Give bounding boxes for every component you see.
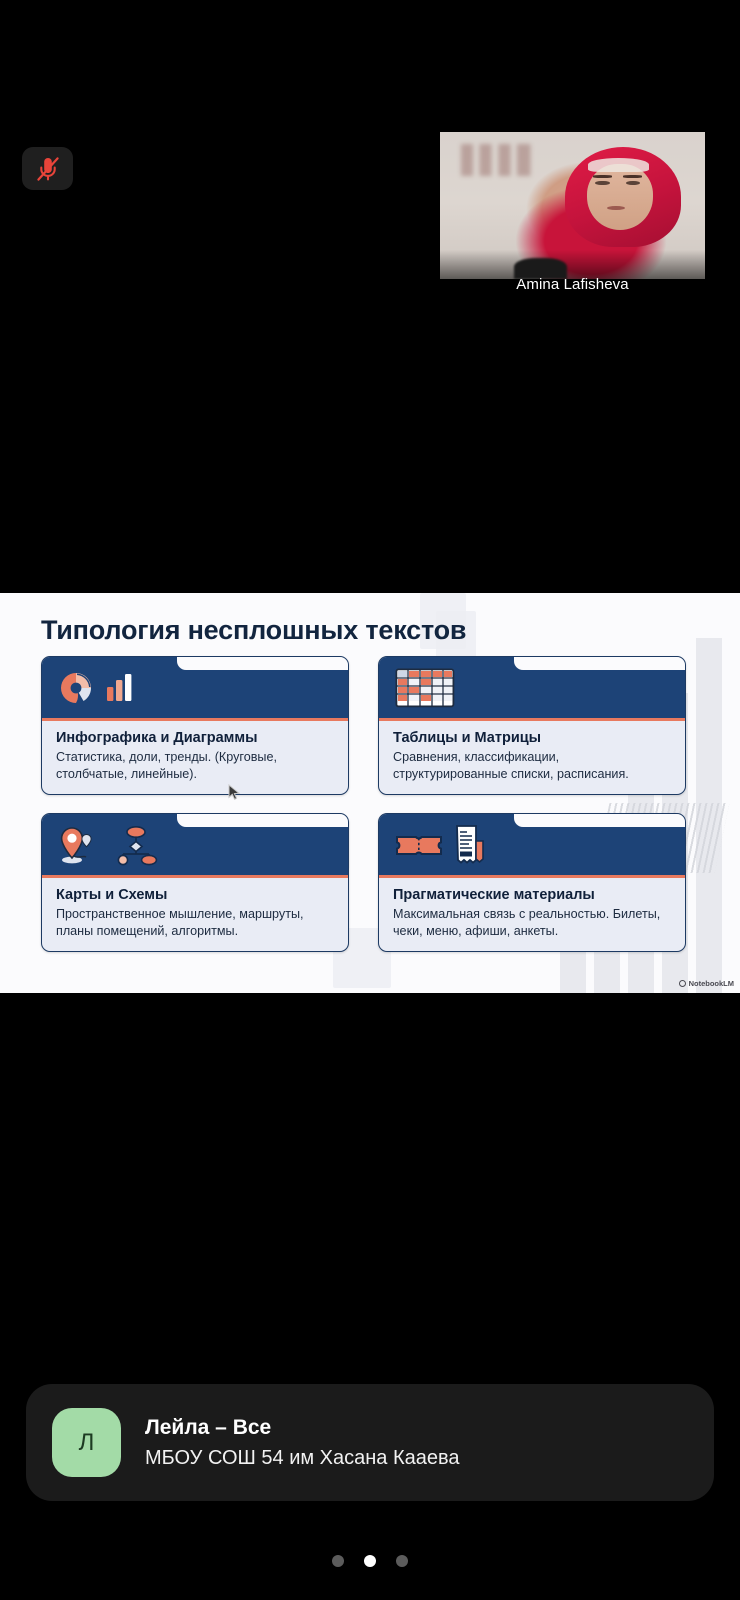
shared-slide[interactable]: Типология несплошных текстов (0, 593, 740, 993)
slide-title: Типология несплошных текстов (41, 615, 466, 646)
map-pin-icon (58, 824, 104, 866)
chat-text-block: Лейла – Все МБОУ СОШ 54 им Хасана Каaева (145, 1416, 460, 1470)
card-header (42, 657, 348, 721)
card-title: Таблицы и Матрицы (393, 730, 671, 746)
chat-message-text: МБОУ СОШ 54 им Хасана Каaева (145, 1447, 460, 1470)
card-body: Прагматические материалы Максимальная св… (379, 878, 685, 951)
card-title: Инфографика и Диаграммы (56, 730, 334, 746)
card-description: Максимальная связь с реальностью. Билеты… (393, 906, 671, 939)
card-row-bottom: Карты и Схемы Пространственное мышление,… (41, 813, 699, 952)
card-maps[interactable]: Карты и Схемы Пространственное мышление,… (41, 813, 349, 952)
card-description: Сравнения, классификации, структурирован… (393, 749, 671, 782)
card-body: Таблицы и Матрицы Сравнения, классификац… (379, 721, 685, 794)
card-infographics[interactable]: Инфографика и Диаграммы Статистика, доли… (41, 656, 349, 795)
background-logo (461, 144, 546, 176)
microphone-muted-badge[interactable] (22, 147, 73, 190)
card-header (379, 814, 685, 878)
card-pragmatic-materials[interactable]: Прагматические материалы Максимальная св… (378, 813, 686, 952)
video-shadow (440, 250, 705, 279)
card-description: Статистика, доли, тренды. (Круговые, сто… (56, 749, 334, 782)
card-tables[interactable]: Таблицы и Матрицы Сравнения, классификац… (378, 656, 686, 795)
mouth (607, 206, 626, 210)
notebooklm-watermark: NotebookLM (679, 979, 734, 988)
card-body: Инфографика и Диаграммы Статистика, доли… (42, 721, 348, 794)
microphone-muted-icon (35, 155, 61, 183)
page-dot-2[interactable] (364, 1555, 376, 1567)
card-row-top: Инфографика и Диаграммы Статистика, доли… (41, 656, 699, 795)
eyebrow-left (593, 175, 612, 177)
card-title: Прагматические материалы (393, 887, 671, 903)
avatar: Л (52, 1408, 121, 1477)
card-title: Карты и Схемы (56, 887, 334, 903)
card-header (379, 657, 685, 721)
participant-video-tile[interactable] (440, 132, 705, 279)
bar-chart-icon (104, 671, 137, 704)
eye-right (626, 181, 641, 186)
page-dot-1[interactable] (332, 1555, 344, 1567)
ticket-icon (395, 830, 443, 860)
eyebrow-right (623, 175, 642, 177)
pagination-dots[interactable] (0, 1555, 740, 1567)
notebooklm-label: NotebookLM (689, 979, 734, 988)
participant-name-label: Amina Lafisheva (440, 276, 705, 293)
notebooklm-logo-icon (679, 980, 686, 987)
flowchart-icon (114, 824, 158, 866)
card-body: Карты и Схемы Пространственное мышление,… (42, 878, 348, 951)
pie-chart-icon (58, 670, 94, 706)
table-grid-icon (395, 668, 455, 708)
mouse-cursor-icon (228, 784, 241, 806)
chat-message-card[interactable]: Л Лейла – Все МБОУ СОШ 54 им Хасана Каaе… (26, 1384, 714, 1501)
receipt-icon (453, 823, 487, 867)
chat-sender: Лейла – Все (145, 1416, 460, 1440)
card-grid: Инфографика и Диаграммы Статистика, доли… (41, 656, 699, 970)
card-description: Пространственное мышление, маршруты, пла… (56, 906, 334, 939)
headband (588, 158, 649, 171)
page-dot-3[interactable] (396, 1555, 408, 1567)
card-header (42, 814, 348, 878)
meeting-screen: Amina Lafisheva Типология несплошных тек… (0, 0, 740, 1600)
eye-left (595, 181, 610, 186)
